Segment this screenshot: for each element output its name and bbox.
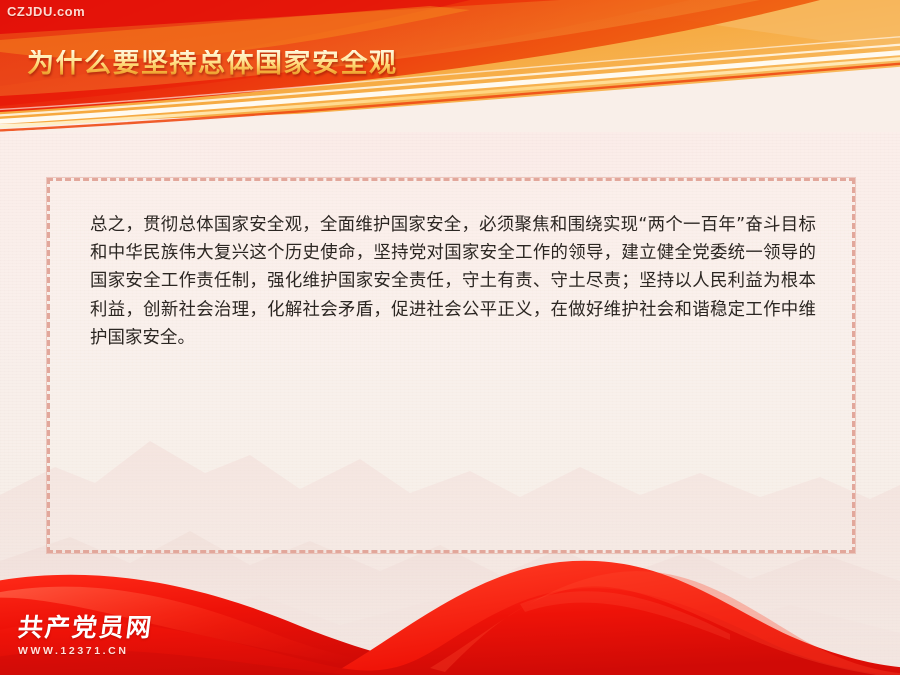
content-box: 总之，贯彻总体国家安全观，全面维护国家安全，必须聚焦和围绕实现“两个一百年”奋斗…	[47, 178, 855, 553]
body-paragraph: 总之，贯彻总体国家安全观，全面维护国家安全，必须聚焦和围绕实现“两个一百年”奋斗…	[90, 211, 816, 352]
site-watermark: CZJDU.com	[7, 4, 85, 19]
footer-red-wave	[0, 540, 900, 675]
page-title: 为什么要坚持总体国家安全观	[27, 50, 398, 77]
slide-root: CZJDU.com 为什么要坚持总体国家安全观 总之，贯彻总体国家安全观，全面维…	[0, 0, 900, 675]
